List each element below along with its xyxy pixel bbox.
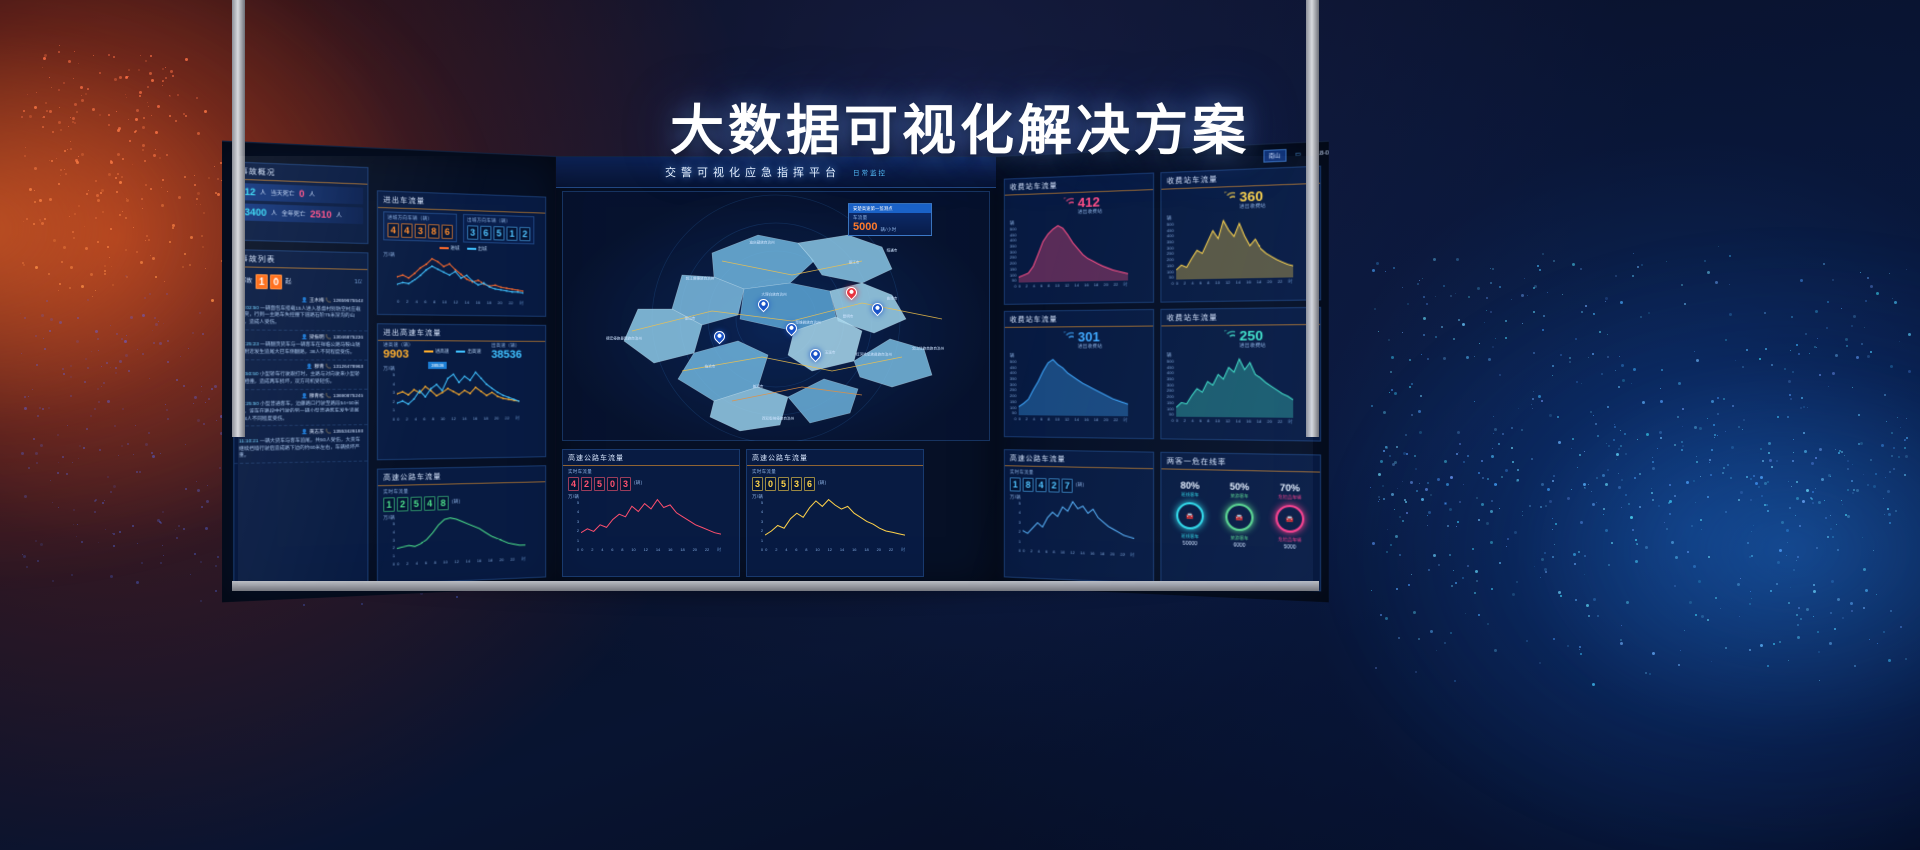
x-tick: 22 [1278,419,1283,425]
outbound-counter[interactable]: 出城方向车辆（辆）36512 [463,214,534,244]
toll-chart-area[interactable]: 辆500450400350300250200150100500024681012… [1005,352,1153,423]
toll-station-panel-3[interactable]: 收费站车流量301进出收费站辆5004504003503002502001501… [1004,309,1154,439]
highway-flow-digit-wrap[interactable]: 18427(辆) [1010,475,1148,495]
marker-dot[interactable] [716,333,722,339]
toll-kpi-row[interactable]: 250进出收费站 [1161,325,1320,352]
x-tick: 6 [1040,416,1042,422]
x-tick: 18 [484,416,488,422]
x-tick: 14 [656,547,660,553]
toll-kpi-row[interactable]: 301进出收费站 [1005,327,1153,353]
x-tick: 8 [433,299,435,305]
marker-dot[interactable] [848,289,854,295]
y-tick: 450 [1167,364,1174,369]
highway-flow-digit-wrap[interactable]: 42503(辆) [568,475,734,491]
toll-chart[interactable]: 0246810121416182022时 [1176,352,1293,425]
online-rate-name[interactable]: 危险品车辆 [1278,536,1301,543]
marker-dot[interactable] [788,325,794,331]
x-tick: 4 [415,416,417,422]
x-tick: 14 [1074,282,1079,288]
map-callout-unit: 辆/小时 [880,227,896,233]
y-tick: 500 [1010,359,1017,364]
digit-cell: 4 [424,496,435,511]
highway-flow-chart-area[interactable]: 万/辆5432100246810121416182022时 [747,494,923,553]
marker-dot[interactable] [760,301,766,307]
y-tick: 450 [1010,232,1017,237]
legend-swatch[interactable] [456,350,465,352]
highway-inout-values[interactable]: 进高速（辆）9903进高速出高速出高速（辆）38536 [378,341,545,362]
inbound-digits[interactable]: 44386 [387,223,452,239]
y-tick: 400 [1167,233,1174,238]
legend-swatch[interactable] [424,350,433,352]
x-tick: 18 [680,547,684,553]
highway-peak-tag: 38536 [428,362,447,369]
y-tick: 1 [752,538,763,543]
online-rate-item[interactable]: 80%班线客车🚘班线客车50000 [1176,480,1204,547]
person-icon: 👤 [302,334,310,339]
highway-y-wrap[interactable]: 万/辆543210 [383,366,395,423]
y-tick: 300 [1010,382,1017,387]
accident-count-row[interactable]: 事故10起1/2 [234,267,367,295]
highway-flow-chart-area[interactable]: 万/辆5432100246810121416182022时 [378,510,545,568]
online-rate-percent: 70% [1280,482,1300,493]
toll-station-panel-4[interactable]: 收费站车流量250进出收费站辆5004504003503002502001501… [1160,307,1321,442]
y-tick: 50 [1010,278,1017,283]
y-tick: 5 [383,521,395,527]
online-rate-count: 5000 [1284,544,1296,551]
y-tick: 350 [1167,376,1174,381]
digit-cell: 1 [506,226,517,240]
highway-flow-unit: (辆) [818,480,826,486]
map-region-label: 西双版纳傣族自治州 [762,417,794,422]
y-tick: 3 [752,519,763,524]
marker-dot[interactable] [812,351,818,357]
hero-banner: 大数据可视化解决方案 事故概况12人当天死亡0人3400人全年死亡2510人事故… [0,0,1920,850]
accident-list-item[interactable]: 👤 穆青松 📞 1369087524512:25:50 小型普通客车，边藤路口行… [234,389,367,427]
x-tick: 16 [852,547,856,553]
outbound-digits[interactable]: 36512 [467,225,530,241]
highway-flow-panel-3[interactable]: 高速公路车流量实时车流量30536(辆)万/辆54321002468101214… [746,449,924,577]
x-tick: 12 [1070,550,1075,556]
legend-swatch[interactable] [439,247,448,249]
stat-unit: 人 [271,209,277,218]
x-axis[interactable]: 0246810121416182022时 [765,547,905,553]
highway-flow-y-wrap[interactable]: 万/辆543210 [383,515,395,568]
highway-flow-digit-wrap[interactable]: 30536(辆) [752,475,918,491]
x-axis[interactable]: 0246810121416182022时 [397,415,520,422]
digit-cell: 3 [752,477,763,491]
y-tick: 350 [1167,239,1174,244]
online-rate-item[interactable]: 70%危险品车辆🚘危险品车辆5000 [1275,482,1304,551]
x-axis-unit: 时 [1130,552,1134,558]
inout-chart-area[interactable]: 万/辆0246810121416182022时 [378,250,545,307]
highway-flow-chart-area[interactable]: 万/辆5432100246810121416182022时 [1005,494,1153,559]
accident-item-body[interactable]: 15:02:50 一辆面包车搭载15人进入基督村别防空村庄载冲突，行到一主路车失… [239,304,363,326]
y-axis[interactable]: 500450400350300250200150100500 [1010,359,1017,421]
highway-flow-digits[interactable]: 12548 [383,496,449,512]
map-region-label: 曲靖市 [887,297,898,302]
highway-flow-panel-1[interactable]: 高速公路车流量实时车流量12548(辆)万/辆54321002468101214… [377,465,546,585]
online-rate-name[interactable]: 旅游客车 [1230,535,1248,542]
y-axis[interactable]: 543210 [383,372,395,422]
x-axis-unit: 时 [521,556,525,562]
legend-item[interactable]: 出城 [467,246,487,253]
highway-inout-legend[interactable]: 进高速出高速 [419,346,487,356]
x-tick: 12 [1225,280,1230,286]
accident-overview-panel[interactable]: 事故概况12人当天死亡0人3400人全年死亡2510人 [233,161,368,244]
x-tick: 16 [476,300,481,306]
y-tick: 250 [1167,388,1174,393]
highway-flow-counter[interactable]: 实时车流量42503(辆) [563,466,739,494]
highway-flow-y-wrap[interactable]: 万/辆543210 [1010,494,1021,554]
phone-icon: 📞 [324,393,333,398]
x-tick: 0 [1176,281,1178,287]
highway-flow-chart[interactable]: 0246810121416182022时 [581,494,721,553]
x-tick: 8 [1048,416,1050,422]
x-tick: 20 [1267,419,1272,425]
person-icon: 👤 [302,393,310,398]
y-tick: 250 [1167,251,1174,256]
y-axis[interactable]: 500450400350300250200150100500 [1167,221,1174,285]
accident-item-phone: 13553426193 [333,428,363,434]
toll-chart[interactable]: 0246810121416182022时 [1018,217,1127,290]
y-tick: 200 [1167,257,1174,262]
y-tick: 4 [568,509,579,514]
inout-flow-panel[interactable]: 进出车流量进城方向车辆（辆）44386出城方向车辆（辆）36512进城出城万/辆… [377,190,546,317]
y-axis[interactable]: 500450400350300250200150100500 [1010,226,1017,288]
toll-station-title: 收费站车流量 [1005,310,1153,328]
stat-unit-2: 人 [309,190,315,199]
highway-in-value-box[interactable]: 进高速（辆）9903 [383,342,413,361]
accident-item-body[interactable]: 11:10:21 一辆大货车与客车追尾，共50人受伤，大货车继续挡墙行驶后造成路… [239,436,363,459]
dashboard-title: 交警可视化应急指挥平台 [665,164,841,180]
x-tick: 2 [1184,418,1186,424]
accident-count-unit: 起 [285,277,291,286]
highway-flow-chart-area[interactable]: 万/辆5432100246810121416182022时 [563,494,739,553]
digit-cell: 5 [410,497,421,512]
digit-cell: 8 [428,224,439,239]
toll-kpi[interactable]: 412进出收费站 [1078,195,1102,215]
online-rate-ring[interactable]: 🚘 [1176,502,1204,530]
toll-chart[interactable]: 0246810121416182022时 [1018,352,1127,423]
x-axis-unit: 时 [717,547,721,553]
y-tick: 200 [1010,261,1017,266]
y-tick: 450 [1167,227,1174,232]
online-rate-items[interactable]: 80%班线客车🚘班线客车5000050%旅游客车🚘旅游客车600070%危险品车… [1161,469,1320,562]
accident-stat-row[interactable]: 12人当天死亡0人 [239,183,363,204]
x-axis[interactable]: 0246810121416182022时 [1176,418,1293,426]
y-tick: 150 [1010,399,1017,404]
highway-flow-counter[interactable]: 实时车流量18427(辆) [1005,466,1153,498]
toll-kpi[interactable]: 301进出收费站 [1078,330,1102,350]
y-tick: 300 [1167,245,1174,250]
toll-station-panel-1[interactable]: 收费站车流量412进出收费站辆5004504003503002502001501… [1004,172,1154,304]
vehicle-icon: 🚘 [1286,515,1294,523]
y-tick: 0 [1010,283,1017,288]
x-tick: 2 [406,299,408,305]
map-callout[interactable]: 安楚高速第一监测点车流量5000辆/小时 [848,203,932,236]
accident-stat-row[interactable]: 3400人全年死亡2510人 [239,203,363,224]
y-axis[interactable]: 543210 [568,500,579,552]
highway-flow-panel-2[interactable]: 高速公路车流量实时车流量42503(辆)万/辆54321002468101214… [562,449,740,577]
y-tick: 4 [752,509,763,514]
y-tick: 2 [568,528,579,533]
wall-facet-right: 南山▭2018-0收费站车流量412进出收费站辆5004504003503002… [996,141,1329,603]
accident-list-item[interactable]: 👤 王木梅 📞 1265967554215:02:50 一辆面包车搭载15人进入… [234,293,367,331]
highway-flow-digits[interactable]: 30536 [752,477,815,491]
y-tick: 500 [1167,359,1174,364]
accident-item-name: 梁振明 [309,334,324,339]
tab-daily-monitor[interactable]: 日常监控 [853,167,887,177]
toll-chart-area[interactable]: 辆500450400350300250200150100500024681012… [1005,216,1153,290]
toll-value: 301 [1078,330,1102,343]
toll-value: 412 [1078,195,1102,209]
accident-item-header[interactable]: 👤 梁振明 📞 13046875236 [239,333,363,341]
x-tick: 6 [611,547,613,553]
y-axis[interactable]: 543210 [752,500,763,552]
x-tick: 0 [1176,418,1178,424]
online-rate-name[interactable]: 班线客车 [1181,533,1199,540]
toll-y-wrap[interactable]: 辆500450400350300250200150100500 [1010,220,1017,289]
x-tick: 0 [397,299,399,305]
x-tick: 20 [498,300,502,306]
toll-y-wrap[interactable]: 辆500450400350300250200150100500 [1167,215,1174,287]
x-tick: 16 [1084,282,1089,288]
highway-inout-chart-area[interactable]: 万/辆543210385360246810121416182022时 [378,362,545,423]
digit-cell: 5 [493,226,504,240]
y-tick: 5 [383,372,395,377]
x-axis[interactable]: 0246810121416182022时 [1018,282,1127,290]
x-tick: 22 [509,300,513,306]
x-axis[interactable]: 0246810121416182022时 [581,547,721,553]
accident-list-item[interactable]: 👤 梁振明 📞 1304687523614:25:23 一辆翻页货车与一辆客车在… [234,330,367,360]
legend-swatch[interactable] [467,247,476,249]
page-title: 大数据可视化解决方案 [0,86,1920,165]
y-tick: 100 [1010,272,1017,277]
signal-arc-icon [1054,331,1074,349]
y-tick: 200 [1167,394,1174,399]
x-tick: 18 [864,547,868,553]
phone-icon: 📞 [324,429,333,434]
x-axis-unit: 时 [901,547,905,553]
highway-inout-chart[interactable]: 385360246810121416182022时 [397,366,520,423]
toll-label: 进出收费站 [1078,343,1102,349]
x-tick: 20 [1104,282,1109,288]
wall-bezel-bottom [232,581,1319,591]
inout-y-unit: 万/辆 [383,252,395,305]
y-tick: 0 [752,547,763,552]
map-callout-header: 安楚高速第一监测点 [849,204,931,213]
accident-item-name: 穆青松 [309,393,324,398]
y-tick: 500 [1167,221,1174,226]
highway-out-value-box[interactable]: 出高速（辆）38536 [491,343,522,361]
x-tick: 20 [693,547,697,553]
x-tick: 0 [1018,416,1020,422]
x-tick: 16 [1246,418,1251,424]
x-tick: 4 [1033,283,1035,289]
x-axis-unit: 时 [520,300,524,306]
wall-bezel-right [1306,0,1319,437]
x-tick: 2 [1030,548,1032,554]
x-tick: 2 [775,547,777,553]
x-tick: 0 [1018,284,1020,290]
digit-cell: 3 [620,477,631,491]
highway-flow-chart[interactable]: 0246810121416182022时 [1023,495,1135,559]
map-region-label: 普洱市 [753,385,764,390]
y-tick: 1 [383,553,395,559]
y-tick: 250 [1010,255,1017,260]
digit-cell: 0 [607,477,618,491]
count-digit: 1 [256,274,268,289]
x-tick: 4 [415,299,417,305]
x-tick: 20 [1267,279,1272,285]
x-tick: 8 [434,560,436,566]
x-tick: 16 [477,558,482,564]
signal-arc-icon [1213,329,1235,348]
x-tick: 6 [1040,283,1042,289]
accident-item-name: 王木梅 [309,297,324,302]
inout-chart[interactable]: 0246810121416182022时 [397,252,524,306]
legend-item[interactable]: 进高速 [424,348,449,354]
y-tick: 50 [1167,275,1174,280]
legend-item[interactable]: 进城 [439,245,460,252]
x-tick: 2 [1026,416,1028,422]
online-rate-panel[interactable]: 两客一危在线率80%班线客车🚘班线客车5000050%旅游客车🚘旅游客车6000… [1160,452,1321,592]
accident-item-header[interactable]: 👤 穆青 📞 13126478963 [239,363,363,370]
toll-chart-area[interactable]: 辆500450400350300250200150100500024681012… [1161,211,1320,288]
accident-list-item[interactable]: 👤 黄志东 📞 1355342619311:10:21 一辆大货车与客车追尾，共… [234,425,367,464]
x-tick: 4 [416,560,418,566]
accident-list-panel[interactable]: 事故列表事故10起1/2👤 王木梅 📞 1265967554215:02:50 … [233,249,368,589]
x-axis-unit: 时 [1123,282,1127,288]
digit-cell: 4 [568,477,579,491]
highway-flow-unit: (辆) [452,499,461,505]
y-axis[interactable]: 543210 [383,521,395,567]
x-tick: 6 [1045,549,1047,555]
vehicle-icon: 🚘 [1186,512,1194,520]
y-tick: 350 [1010,376,1017,381]
highway-flow-counter[interactable]: 实时车流量30536(辆) [747,466,923,494]
toll-kpi[interactable]: 360进出收费站 [1239,189,1265,210]
x-tick: 14 [466,558,471,564]
map-region-label: 怒江傈僳族自治州 [686,277,715,282]
highway-flow-unit: (辆) [634,480,642,486]
x-tick: 14 [1236,279,1241,285]
x-tick: 14 [840,547,844,553]
online-rate-item[interactable]: 50%旅游客车🚘旅游客车6000 [1225,481,1253,549]
highway-inout-title: 进出高速车流量 [378,324,545,342]
x-tick: 10 [631,547,635,553]
stat-label: 当天死亡 [271,188,295,197]
x-axis[interactable]: 0246810121416182022时 [397,299,524,307]
right-blue-glow [1320,230,1920,850]
y-axis[interactable]: 543210 [1010,500,1021,553]
highway-flow-chart[interactable]: 0246810121416182022时 [397,511,526,568]
toll-chart-area[interactable]: 辆500450400350300250200150100500024681012… [1161,352,1320,426]
y-tick: 150 [1167,400,1174,405]
inout-counter-row[interactable]: 进城方向车辆（辆）44386出城方向车辆（辆）36512 [378,208,545,248]
x-tick: 8 [621,547,623,553]
y-tick: 3 [1010,519,1021,524]
accident-item-body[interactable]: 11:50:50 小型轿车行驶跟打时，主路与对向驶来小型轿车相撞，造成两车损坏，… [239,371,363,385]
highway-flow-unit: (辆) [1076,482,1085,488]
x-tick: 16 [1246,279,1251,285]
phone-icon: 📞 [324,363,333,368]
y-axis[interactable]: 500450400350300250200150100500 [1167,359,1174,423]
digit-cell: 8 [1023,478,1034,492]
x-tick: 4 [1191,418,1193,424]
legend-item[interactable]: 出高速 [456,349,481,355]
inbound-label: 进城方向车辆（辆） [387,215,452,223]
x-tick: 12 [454,559,459,565]
highway-flow-y-wrap[interactable]: 万/辆543210 [568,494,579,553]
x-tick: 4 [1191,280,1193,286]
highway-flow-y-wrap[interactable]: 万/辆543210 [752,494,763,553]
y-tick: 0 [1010,547,1021,552]
inbound-counter[interactable]: 进城方向车辆（辆）44386 [383,211,457,242]
accident-item-body[interactable]: 14:25:23 一辆翻页货车与一辆客车在祥临公路马鞍山隧道附近发生追尾大巴车侧… [239,341,363,356]
y-tick: 300 [1167,382,1174,387]
y-tick: 100 [1167,269,1174,274]
digit-cell: 4 [1036,478,1047,492]
highway-flow-digits[interactable]: 42503 [568,477,631,491]
x-axis-unit: 时 [1288,278,1292,284]
accident-count-digits[interactable]: 10 [256,274,283,289]
online-rate-ring[interactable]: 🚘 [1225,503,1253,531]
online-rate-ring[interactable]: 🚘 [1275,505,1304,534]
marker-dot[interactable] [874,305,880,311]
accident-list-item[interactable]: 👤 穆青 📞 1312647896311:50:50 小型轿车行驶跟打时，主路与… [234,360,367,390]
map-region-label: 文山壮族苗族自治州 [912,347,944,352]
map-region-label: 德宏傣族景颇族自治州 [606,337,642,342]
x-axis[interactable]: 0246810121416182022时 [1018,416,1127,423]
digit-cell: 6 [442,224,453,239]
particle-dot [200,600,202,602]
online-rate-count: 50000 [1183,541,1198,548]
toll-station-panel-2[interactable]: 收费站车流量360进出收费站辆5004504003503002502001501… [1160,166,1321,303]
accident-item-phone: 13046875236 [333,334,363,339]
x-tick: 2 [1026,283,1028,289]
x-tick: 0 [397,416,399,422]
x-tick: 6 [1199,280,1201,286]
highway-flow-digits[interactable]: 18427 [1010,477,1073,493]
highway-flow-panel-4[interactable]: 高速公路车流量实时车流量18427(辆)万/辆54321002468101214… [1004,449,1154,584]
toll-kpi[interactable]: 250进出收费站 [1239,329,1265,349]
accident-list-page[interactable]: 1/2 [355,279,362,285]
x-tick: 20 [877,547,881,553]
map-region-label: 临沧市 [705,365,716,370]
x-tick: 18 [1257,419,1262,425]
toll-chart[interactable]: 0246810121416182022时 [1176,211,1293,286]
x-tick: 4 [1038,549,1040,555]
y-tick: 0 [1167,418,1174,423]
x-tick: 22 [505,415,509,421]
accident-item-body[interactable]: 12:25:50 小型普通客车，边藤路口行驶至路段54+50米处，该车在路段中行… [239,400,363,422]
y-tick: 1 [383,408,395,413]
accident-item-header[interactable]: 👤 穆青松 📞 13690875245 [239,392,363,400]
highway-inout-panel[interactable]: 进出高速车流量进高速（辆）9903进高速出高速出高速（辆）38536万/辆543… [377,323,546,460]
x-tick: 10 [1215,280,1220,286]
x-axis[interactable]: 0246810121416182022时 [1176,278,1293,286]
highway-flow-chart[interactable]: 0246810121416182022时 [765,494,905,553]
highway-flow-title: 高速公路车流量 [563,450,739,466]
x-tick: 18 [488,558,492,564]
y-tick: 2 [1010,529,1021,534]
toll-y-wrap[interactable]: 辆500450400350300250200150100500 [1010,353,1017,422]
y-tick: 0 [383,561,395,567]
map-callout-value-row[interactable]: 5000辆/小时 [853,221,927,233]
video-wall: 事故概况12人当天死亡0人3400人全年死亡2510人事故列表事故10起1/2👤… [238,156,1313,586]
toll-y-wrap[interactable]: 辆500450400350300250200150100500 [1167,352,1174,424]
